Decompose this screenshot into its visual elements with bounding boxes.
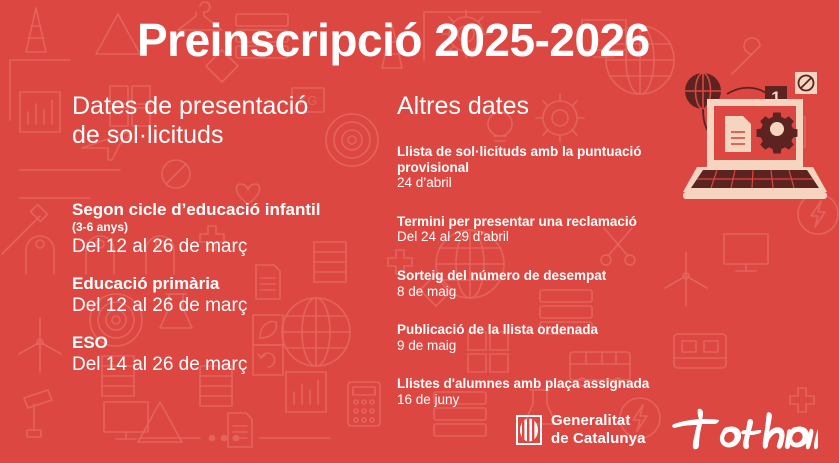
catalan-shield-icon <box>516 415 542 445</box>
laptop-illustration: 1 <box>677 66 837 206</box>
list-item: Segon cicle d’educació infantil (3-6 any… <box>72 200 392 258</box>
list-item: Sorteig del número de desempat 8 de maig <box>397 268 697 300</box>
list-item: Llista de sol·licituds amb la puntuació … <box>397 144 697 192</box>
generalitat-logo: Generalitat de Catalunya <box>516 412 646 447</box>
left-column: Dates de presentació de sol·licituds Seg… <box>72 92 392 151</box>
entry-title: Segon cicle d’educació infantil <box>72 200 392 220</box>
entry-date: 9 de maig <box>397 338 697 354</box>
generalitat-wordmark: Generalitat de Catalunya <box>551 412 646 447</box>
tothom-logo <box>668 407 818 453</box>
entry-subtitle: (3-6 anys) <box>72 220 392 236</box>
other-dates-list: Llista de sol·licituds amb la puntuació … <box>397 144 697 430</box>
entry-date: Del 24 al 29 d’abril <box>397 229 697 245</box>
prohibition-icon <box>795 72 817 94</box>
right-column-heading: Altres dates <box>397 92 697 121</box>
page-title: Preinscripció 2025-2026 <box>137 16 650 64</box>
entry-title: Educació primària <box>72 274 392 294</box>
document-icon <box>725 116 751 152</box>
entry-date: 8 de maig <box>397 284 697 300</box>
list-item: Publicació de la llista ordenada 9 de ma… <box>397 322 697 354</box>
entry-title: Publicació de la llista ordenada <box>397 322 697 338</box>
submission-dates-list: Segon cicle d’educació infantil (3-6 any… <box>72 200 392 392</box>
entry-title: Termini per presentar una reclamació <box>397 214 697 230</box>
entry-title: Llista de sol·licituds amb la puntuació … <box>397 144 697 175</box>
entry-title: Llistes d'alumnes amb plaça assignada <box>397 376 697 392</box>
entry-title: ESO <box>72 333 392 353</box>
entry-date: Del 14 al 26 de març <box>72 353 392 376</box>
footer-logos: Generalitat de Catalunya <box>516 405 818 455</box>
left-column-heading: Dates de presentació de sol·licituds <box>72 92 322 151</box>
entry-date: Del 12 al 26 de març <box>72 294 392 317</box>
right-column: Altres dates Llista de sol·licituds amb … <box>397 92 697 121</box>
list-item: ESO Del 14 al 26 de març <box>72 333 392 376</box>
laptop-icon <box>683 99 827 199</box>
entry-date: Del 12 al 26 de març <box>72 235 392 258</box>
entry-title: Sorteig del número de desempat <box>397 268 697 284</box>
list-item: Educació primària Del 12 al 26 de març <box>72 274 392 317</box>
list-item: Llistes d'alumnes amb plaça assignada 16… <box>397 376 697 408</box>
entry-date: 24 d’abril <box>397 175 697 191</box>
list-item: Termini per presentar una reclamació Del… <box>397 214 697 246</box>
